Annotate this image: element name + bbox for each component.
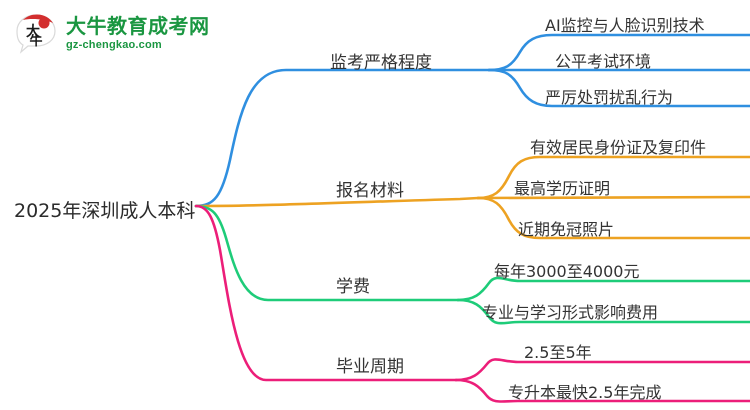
leaf-label-2-3[interactable]: 近期免冠照片 <box>518 216 614 240</box>
branch-label-1[interactable]: 监考严格程度 <box>330 48 432 73</box>
root-node-label[interactable]: 2025年深圳成人本科 <box>14 196 195 223</box>
leaf-label-1-2[interactable]: 公平考试环境 <box>555 48 651 72</box>
leaf-label-2-1[interactable]: 有效居民身份证及复印件 <box>530 134 706 158</box>
branch-line-4 <box>196 206 456 380</box>
branch-line-3 <box>196 206 458 300</box>
branch-label-3[interactable]: 学费 <box>336 272 370 297</box>
leaf-label-4-2[interactable]: 专升本最快2.5年完成 <box>508 379 661 403</box>
leaf-label-4-1[interactable]: 2.5至5年 <box>524 339 592 363</box>
branch-label-4[interactable]: 毕业周期 <box>336 352 404 377</box>
leaf-label-3-1[interactable]: 每年3000至4000元 <box>494 258 639 282</box>
branch-label-2[interactable]: 报名材料 <box>336 176 404 201</box>
leaf-label-3-2[interactable]: 专业与学习形式影响费用 <box>482 299 658 323</box>
leaf-label-2-2[interactable]: 最高学历证明 <box>514 175 610 199</box>
leaf-line-4-1 <box>456 359 750 380</box>
leaf-label-1-1[interactable]: AI监控与人脸识别技术 <box>545 12 705 36</box>
leaf-label-1-3[interactable]: 严厉处罚扰乱行为 <box>545 84 673 108</box>
